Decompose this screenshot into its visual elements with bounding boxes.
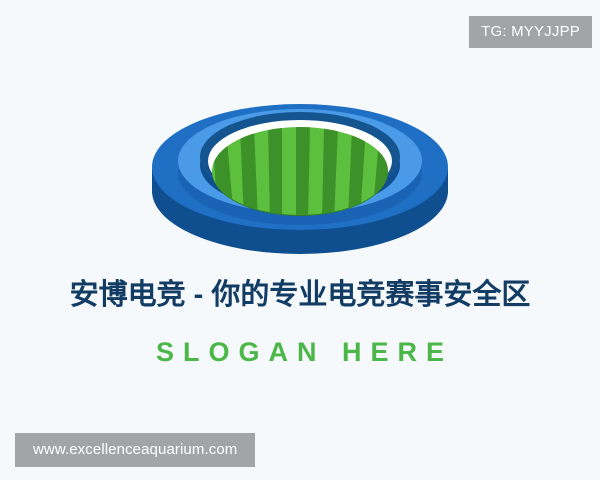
slogan-text: SLOGAN HERE	[0, 336, 600, 368]
page-title: 安博电竞 - 你的专业电竞赛事安全区	[0, 278, 600, 313]
stadium-logo	[150, 99, 450, 269]
site-watermark: www.excellenceaquarium.com	[15, 433, 255, 467]
logo-container	[0, 96, 600, 272]
tg-watermark-badge: TG: MYYJJPP	[469, 16, 592, 48]
